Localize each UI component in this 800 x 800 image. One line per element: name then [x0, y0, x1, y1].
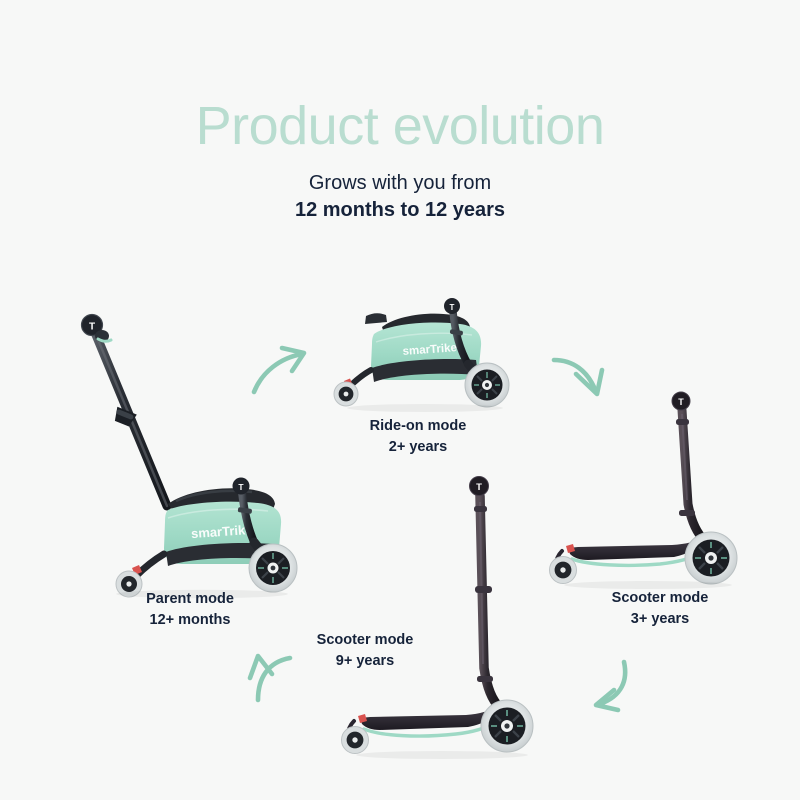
subtitle-line-1: Grows with you from	[0, 172, 800, 195]
scooter-deck	[360, 705, 500, 730]
rear-wheel	[685, 532, 737, 584]
scooter-deck	[568, 537, 704, 560]
svg-text:T: T	[678, 397, 684, 407]
front-wheel	[334, 382, 358, 406]
caption-parent-mode: Parent mode 12+ months	[80, 589, 300, 630]
flow-arrow-up-left-icon	[242, 644, 318, 710]
product-image-ride-on-mode: smarTrike T	[330, 294, 530, 412]
rear-wheel	[249, 544, 297, 592]
product-image-scooter-mode-3: T	[548, 388, 763, 593]
infographic-canvas: Product evolution Grows with you from 12…	[0, 0, 800, 800]
svg-text:T: T	[238, 482, 244, 492]
flow-arrow-up-right-icon	[246, 340, 316, 402]
caption-mode: Parent mode	[80, 589, 300, 610]
svg-text:T: T	[450, 303, 455, 312]
front-wheel	[550, 557, 577, 584]
scooter-stem: T	[470, 477, 501, 709]
rear-wheel	[481, 700, 533, 752]
caption-mode: Ride-on mode	[308, 416, 528, 437]
subtitle-line-2: 12 months to 12 years	[0, 199, 800, 222]
rear-wheel	[465, 363, 509, 407]
caption-mode: Scooter mode	[550, 588, 770, 609]
caption-ride-on-mode: Ride-on mode 2+ years	[308, 416, 528, 457]
caption-age: 12+ months	[80, 610, 300, 631]
svg-text:T: T	[476, 482, 482, 493]
product-image-scooter-mode-9: T	[338, 468, 553, 763]
flow-arrow-down-left-icon	[566, 654, 642, 716]
caption-age: 2+ years	[308, 437, 528, 458]
scooter-stem: T	[672, 392, 704, 540]
caption-scooter-mode-3: Scooter mode 3+ years	[550, 588, 770, 629]
svg-text:T: T	[89, 322, 95, 333]
caption-age: 3+ years	[550, 609, 770, 630]
page-title: Product evolution	[0, 97, 800, 155]
parent-handle: T	[82, 315, 168, 507]
front-wheel	[342, 727, 369, 754]
